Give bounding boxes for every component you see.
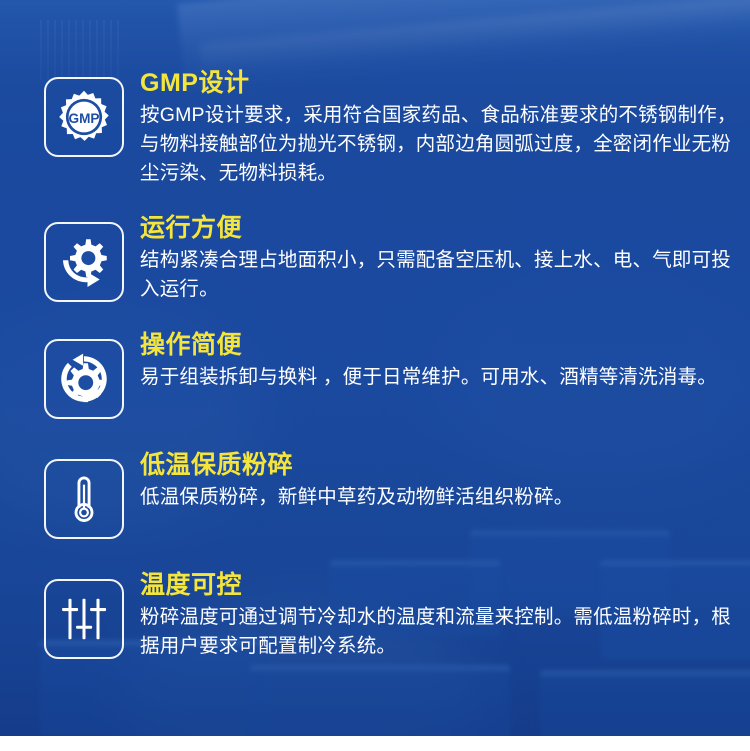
feature-description: 低温保质粉碎，新鲜中草药及动物鲜活组织粉碎。 [140,483,740,512]
feature-title: 低温保质粉碎 [140,450,740,480]
feature-item-low-temperature: 低温保质粉碎 低温保质粉碎，新鲜中草药及动物鲜活组织粉碎。 [44,450,740,539]
gmp-seal-icon: GMP [55,88,113,146]
feature-description: 易于组装拆卸与换料 ，便于日常维护。可用水、酒精等清洗消毒。 [140,363,740,392]
feature-text: 低温保质粉碎 低温保质粉碎，新鲜中草药及动物鲜活组织粉碎。 [140,450,740,512]
feature-list: GMP GMP设计 按GMP设计要求，采用符合国家药品、食品标准要求的不锈钢制作… [0,0,750,751]
feature-title: 操作简便 [140,330,740,360]
feature-text: 操作简便 易于组装拆卸与换料 ，便于日常维护。可用水、酒精等清洗消毒。 [140,330,740,392]
sliders-icon [57,592,111,646]
gmp-seal-label: GMP [69,111,100,126]
icon-frame [44,459,124,539]
feature-list-banner: GMP GMP设计 按GMP设计要求，采用符合国家药品、食品标准要求的不锈钢制作… [0,0,750,751]
icon-frame [44,339,124,419]
thermometer-icon [57,472,111,526]
feature-item-temperature-control: 温度可控 粉碎温度可通过调节冷却水的温度和流量来控制。需低温粉碎时，根据用户要求… [44,570,740,661]
feature-text: 运行方便 结构紧凑合理占地面积小，只需配备空压机、接上水、电、气即可投入运行。 [140,213,740,304]
icon-frame [44,579,124,659]
feature-item-gmp: GMP GMP设计 按GMP设计要求，采用符合国家药品、食品标准要求的不锈钢制作… [44,68,740,188]
feature-text: GMP设计 按GMP设计要求，采用符合国家药品、食品标准要求的不锈钢制作，与物料… [140,68,740,188]
feature-item-simple-maintenance: 操作简便 易于组装拆卸与换料 ，便于日常维护。可用水、酒精等清洗消毒。 [44,330,740,419]
feature-description: 按GMP设计要求，采用符合国家药品、食品标准要求的不锈钢制作，与物料接触部位为抛… [140,101,740,188]
feature-text: 温度可控 粉碎温度可通过调节冷却水的温度和流量来控制。需低温粉碎时，根据用户要求… [140,570,740,661]
feature-description: 粉碎温度可通过调节冷却水的温度和流量来控制。需低温粉碎时，根据用户要求可配置制冷… [140,603,740,661]
gear-arrow-icon [56,234,112,290]
feature-description: 结构紧凑合理占地面积小，只需配备空压机、接上水、电、气即可投入运行。 [140,246,740,304]
feature-title: GMP设计 [140,68,740,98]
gear-refresh-icon [56,351,112,407]
icon-frame: GMP [44,77,124,157]
icon-frame [44,222,124,302]
feature-title: 运行方便 [140,213,740,243]
feature-title: 温度可控 [140,570,740,600]
feature-item-easy-operation: 运行方便 结构紧凑合理占地面积小，只需配备空压机、接上水、电、气即可投入运行。 [44,213,740,304]
